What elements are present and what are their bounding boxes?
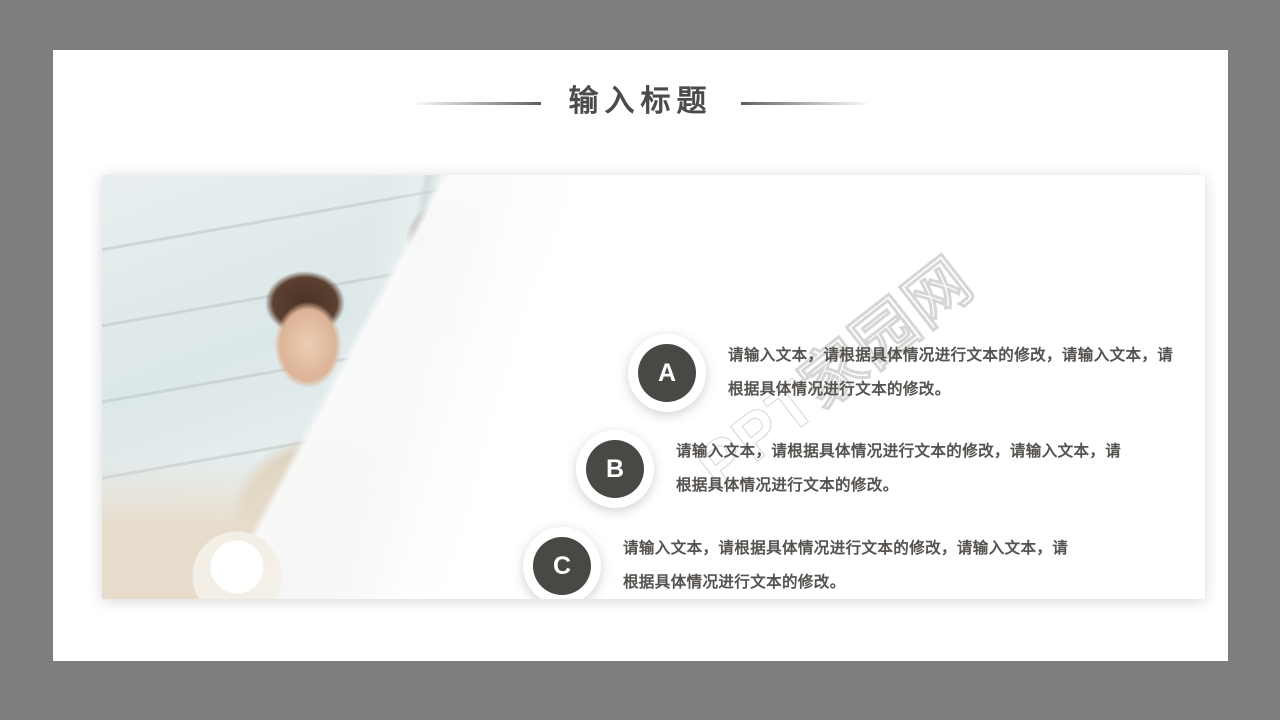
slide-card: 输入标题 PPT家园网 A 请输入文本，请根据具体情况进行文本的修改，请输入文本…: [53, 50, 1228, 661]
list-item[interactable]: C 请输入文本，请根据具体情况进行文本的修改，请输入文本，请根据具体情况进行文本…: [523, 527, 1078, 599]
list-item[interactable]: B 请输入文本，请根据具体情况进行文本的修改，请输入文本，请根据具体情况进行文本…: [576, 430, 1131, 508]
slide-stage: 输入标题 PPT家园网 A 请输入文本，请根据具体情况进行文本的修改，请输入文本…: [0, 0, 1280, 720]
title-rule-right-icon: [741, 102, 871, 105]
content-panel: PPT家园网 A 请输入文本，请根据具体情况进行文本的修改，请输入文本，请根据具…: [102, 175, 1205, 599]
list-item-text: 请输入文本，请根据具体情况进行文本的修改，请输入文本，请根据具体情况进行文本的修…: [728, 339, 1183, 407]
badge-ring-b: B: [576, 430, 654, 508]
badge-letter-a: A: [638, 344, 696, 402]
list-item-text: 请输入文本，请根据具体情况进行文本的修改，请输入文本，请根据具体情况进行文本的修…: [676, 435, 1131, 503]
badge-ring-a: A: [628, 334, 706, 412]
badge-ring-c: C: [523, 527, 601, 599]
badge-letter-c: C: [533, 537, 591, 595]
title-rule-left-icon: [411, 102, 541, 105]
list-item-text: 请输入文本，请根据具体情况进行文本的修改，请输入文本，请根据具体情况进行文本的修…: [623, 532, 1078, 599]
badge-letter-b: B: [586, 440, 644, 498]
bullet-rows: A 请输入文本，请根据具体情况进行文本的修改，请输入文本，请根据具体情况进行文本…: [102, 175, 1205, 599]
list-item[interactable]: A 请输入文本，请根据具体情况进行文本的修改，请输入文本，请根据具体情况进行文本…: [628, 334, 1183, 412]
page-title: 输入标题: [569, 87, 713, 119]
title-row: 输入标题: [53, 78, 1228, 128]
